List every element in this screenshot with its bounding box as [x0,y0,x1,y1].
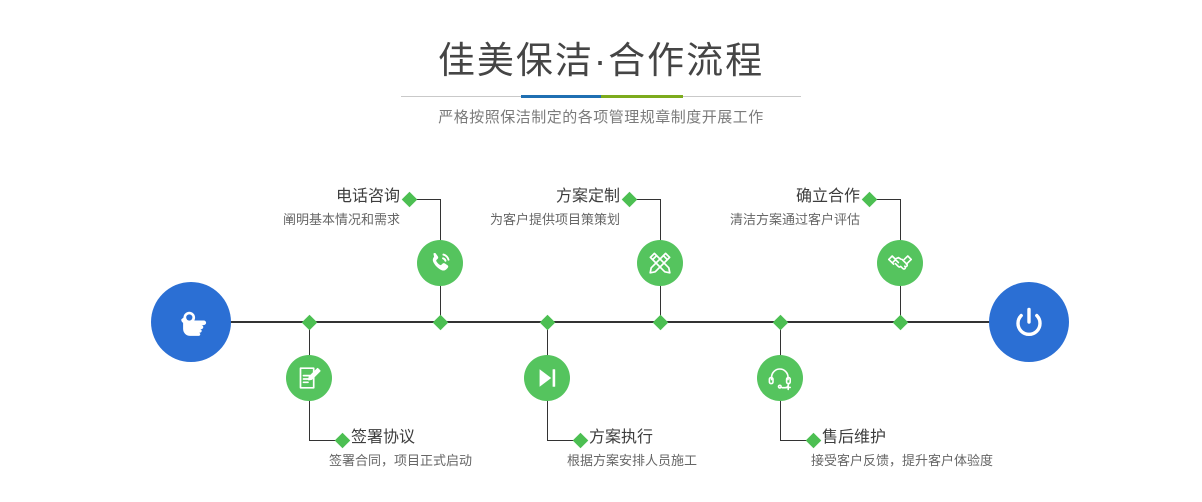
label-marker-step5 [862,192,878,208]
axis-marker-5 [772,314,788,330]
step-title-2: 签署协议 [351,427,581,449]
handshake-icon [886,249,914,277]
step-desc-2: 签署合同，项目正式启动 [329,450,581,472]
page-title: 佳美保洁·合作流程 [0,38,1202,84]
axis-marker-6 [892,314,908,330]
end-node [989,282,1069,362]
label-marker-step3 [622,192,638,208]
step-icon-1[interactable] [417,240,463,286]
step-label-6: 售后维护 接受客户反馈，提升客户体验度 [822,427,1082,472]
step-icon-3[interactable] [637,240,683,286]
step-desc-5: 清洁方案通过客户评估 [652,209,860,231]
hand-pointing-icon [169,300,213,344]
label-marker-step2 [335,433,351,449]
step-desc-6: 接受客户反馈，提升客户体验度 [811,450,1082,472]
step-title-4: 方案执行 [589,427,819,449]
step-desc-3: 为客户提供项目策策划 [420,209,620,231]
step-label-4: 方案执行 根据方案安排人员施工 [589,427,819,472]
step-title-3: 方案定制 [420,186,620,208]
power-icon [1007,300,1051,344]
play-forward-icon [533,364,561,392]
step-icon-4[interactable] [524,355,570,401]
step-desc-4: 根据方案安排人员施工 [567,450,819,472]
axis-marker-4 [652,314,668,330]
step-icon-5[interactable] [877,240,923,286]
flowchart-infographic: 佳美保洁·合作流程 严格按照保洁制定的各项管理规章制度开展工作 [0,0,1202,502]
header: 佳美保洁·合作流程 严格按照保洁制定的各项管理规章制度开展工作 [0,0,1202,145]
axis-marker-3 [539,314,555,330]
divider-segment-green [601,95,683,98]
start-node [151,282,231,362]
step-title-5: 确立合作 [652,186,860,208]
step-label-3: 方案定制 为客户提供项目策策划 [420,186,620,231]
document-edit-icon [295,364,323,392]
phone-call-icon [426,249,454,277]
headset-support-icon [766,364,794,392]
page-subtitle: 严格按照保洁制定的各项管理规章制度开展工作 [0,106,1202,127]
step-label-2: 签署协议 签署合同，项目正式启动 [351,427,581,472]
step-title-1: 电话咨询 [200,186,400,208]
step-label-5: 确立合作 清洁方案通过客户评估 [652,186,860,231]
step-label-1: 电话咨询 阐明基本情况和需求 [200,186,400,231]
title-divider [401,95,801,98]
label-marker-step1 [402,192,418,208]
timeline-axis [160,321,1042,323]
axis-marker-1 [301,314,317,330]
step-desc-1: 阐明基本情况和需求 [200,209,400,231]
divider-segment-blue [521,95,601,98]
pencil-ruler-icon [646,249,674,277]
step-title-6: 售后维护 [822,427,1082,449]
axis-marker-2 [432,314,448,330]
step-icon-6[interactable] [757,355,803,401]
step-icon-2[interactable] [286,355,332,401]
